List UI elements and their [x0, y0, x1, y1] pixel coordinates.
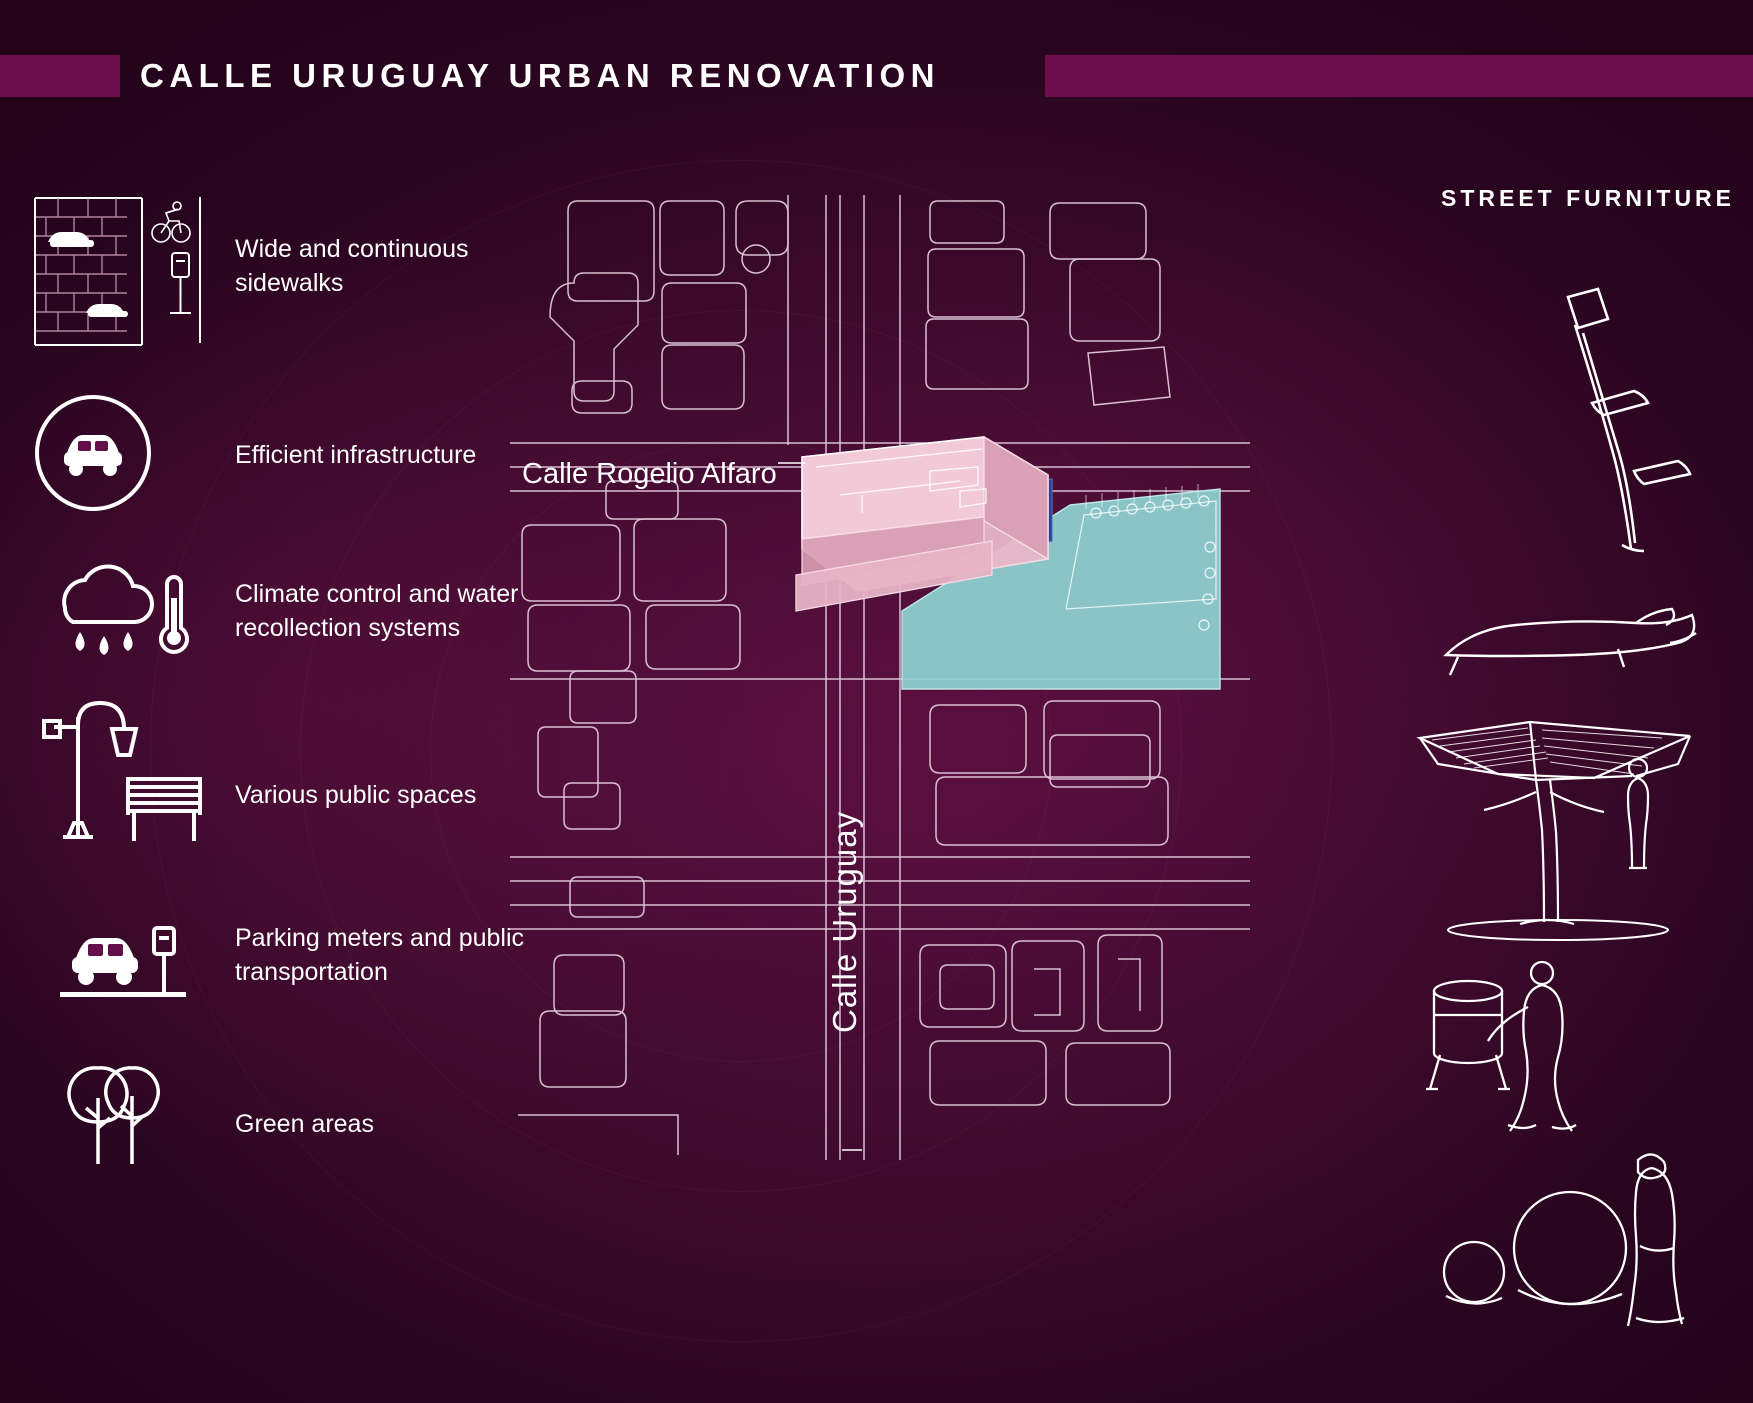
car-parking-meter-icon	[30, 900, 205, 1050]
cloud-rain-thermometer-icon	[30, 550, 205, 700]
street-lamp-illustration	[1530, 285, 1720, 565]
canopy-shade-structure-illustration	[1410, 680, 1710, 940]
streetlamp-bench-icon	[30, 695, 205, 845]
trees-icon	[30, 1040, 205, 1190]
street-label-rogelio-alfaro: Calle Rogelio Alfaro	[522, 458, 777, 491]
header-bar-left	[0, 55, 120, 97]
legend-item-label: Wide and continuous sidewalks	[235, 233, 535, 301]
legend-item-label: Parking meters and public transportation	[235, 922, 535, 990]
legend-item-label: Climate control and water recollection s…	[235, 578, 535, 646]
legend-item-label: Various public spaces	[235, 779, 535, 813]
legend-item-label: Green areas	[235, 1108, 535, 1142]
legend-item-label: Efficient infrastructure	[235, 439, 535, 473]
street-label-uruguay: Calle Uruguay	[826, 811, 864, 1033]
page-title: CALLE URUGUAY URBAN RENOVATION	[140, 52, 1040, 100]
header-bar-right	[1045, 55, 1753, 97]
trash-bin-with-person-illustration	[1420, 955, 1620, 1135]
site-plan-map: Calle Rogelio Alfaro Calle Uruguay	[510, 195, 1250, 1160]
spherical-planters-with-person-illustration	[1440, 1150, 1700, 1330]
street-furniture-title: STREET FURNITURE	[1441, 185, 1735, 212]
sidewalk-bike-icon	[30, 195, 205, 345]
car-in-circle-icon	[30, 391, 205, 541]
infographic-root: CALLE URUGUAY URBAN RENOVATION	[0, 0, 1753, 1403]
